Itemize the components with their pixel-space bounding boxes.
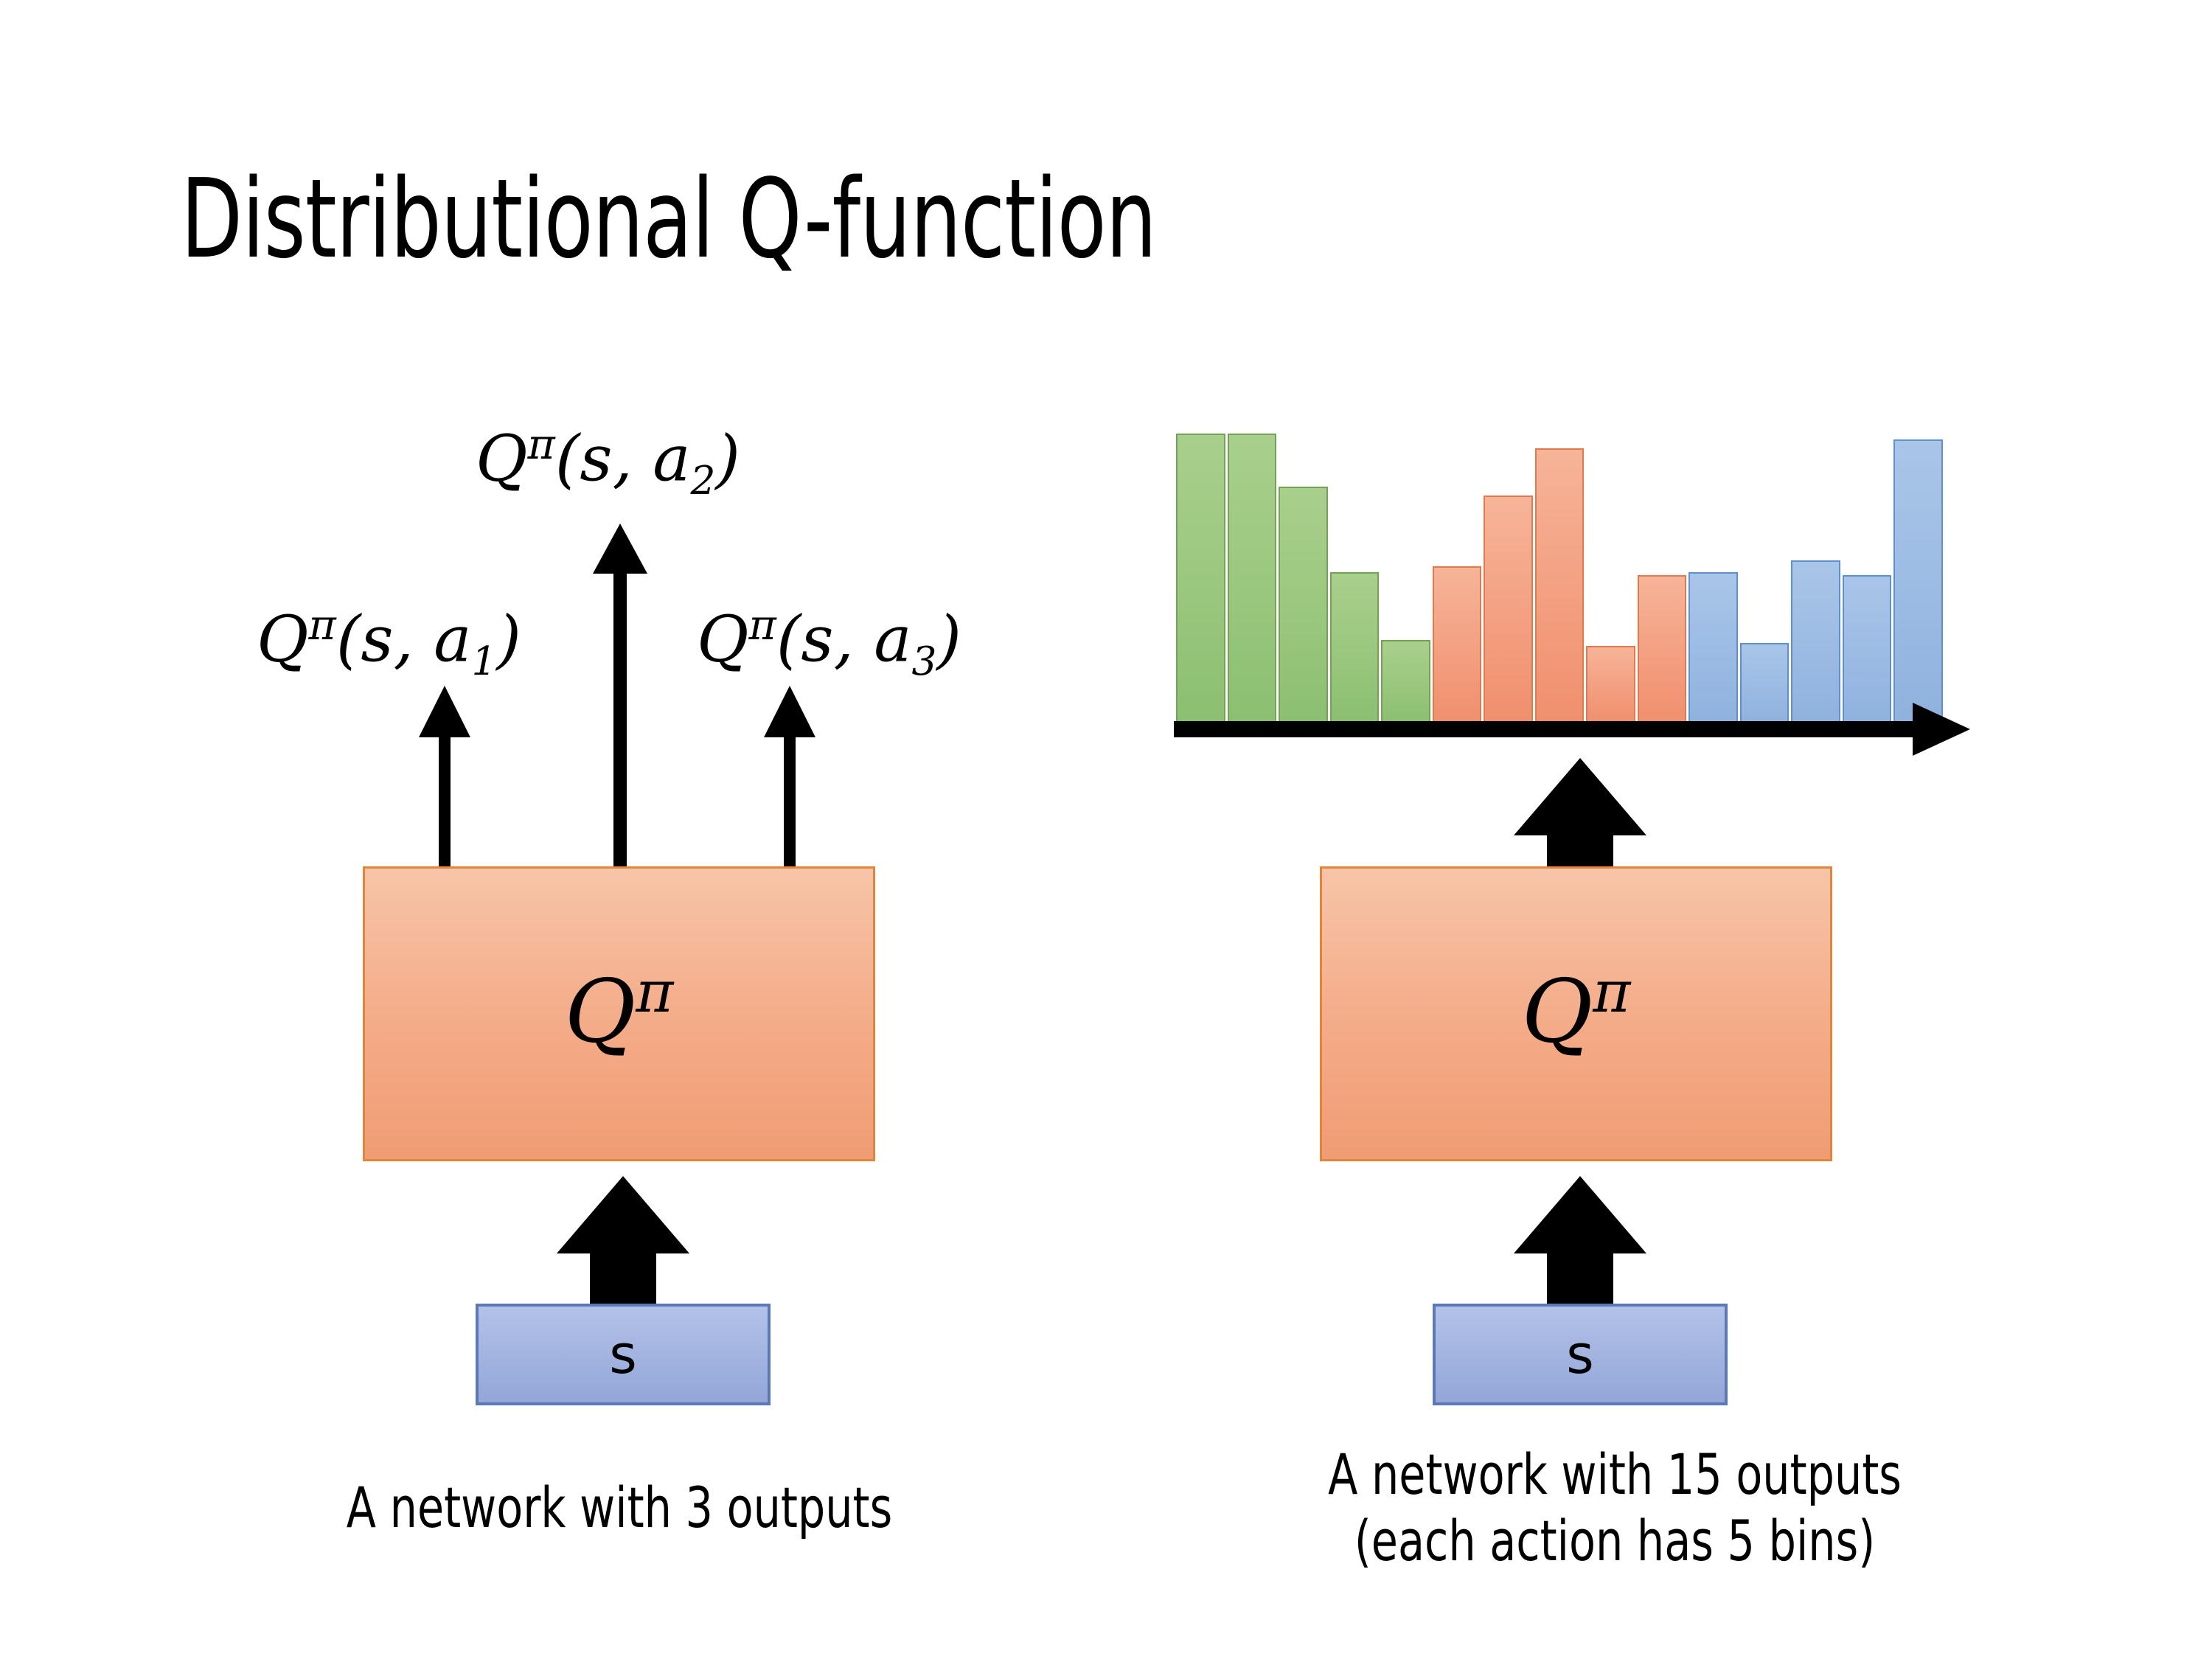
histogram-bar bbox=[1843, 575, 1892, 723]
arrow-up-thin-icon-a2 bbox=[593, 524, 647, 866]
q-a1-args: (s, a bbox=[336, 603, 472, 677]
output-label-q-a1: Qπ(s, a1) bbox=[257, 605, 521, 681]
left-q-superscript: π bbox=[636, 959, 673, 1026]
q-a3-superscript: π bbox=[749, 601, 776, 650]
histogram-bar bbox=[1893, 439, 1943, 723]
histogram-bar bbox=[1433, 566, 1482, 723]
output-label-q-a3: Qπ(s, a3) bbox=[697, 605, 961, 681]
right-network-box-label: Qπ bbox=[1522, 964, 1631, 1054]
histogram-bar bbox=[1535, 448, 1585, 723]
right-q-superscript: π bbox=[1593, 959, 1630, 1026]
arrow-up-block-icon-output bbox=[1514, 758, 1646, 866]
right-network-box[interactable]: Qπ bbox=[1320, 866, 1832, 1161]
left-caption: A network with 3 outputs bbox=[207, 1475, 1032, 1541]
left-q-base: Q bbox=[565, 960, 636, 1062]
histogram-bar bbox=[1586, 646, 1635, 723]
q-a2-close: ) bbox=[715, 422, 740, 496]
right-state-box[interactable]: s bbox=[1433, 1304, 1728, 1405]
histogram-bar bbox=[1638, 575, 1687, 723]
q-a2-subscript: 2 bbox=[690, 458, 715, 504]
q-a1-subscript: 1 bbox=[471, 639, 496, 684]
q-a3-close: ) bbox=[936, 603, 961, 677]
q-a2-args: (s, a bbox=[555, 422, 691, 496]
arrow-up-thin-icon-a1 bbox=[419, 686, 470, 866]
histogram-bar bbox=[1381, 640, 1430, 723]
histogram-bar bbox=[1330, 572, 1380, 723]
left-state-box-label: s bbox=[609, 1328, 637, 1381]
q-a3-base: Q bbox=[697, 603, 749, 677]
output-label-q-a2: Qπ(s, a2) bbox=[476, 424, 740, 501]
left-network-box-label: Qπ bbox=[565, 964, 674, 1054]
right-q-base: Q bbox=[1522, 960, 1593, 1062]
q-a3-args: (s, a bbox=[776, 603, 912, 677]
page-title: Distributional Q-function bbox=[181, 162, 1511, 276]
q-a1-base: Q bbox=[257, 603, 309, 677]
q-a3-subscript: 3 bbox=[911, 639, 936, 684]
histogram-bar bbox=[1176, 434, 1225, 723]
histogram-bar bbox=[1791, 560, 1840, 723]
histogram-bar bbox=[1484, 495, 1533, 723]
right-state-box-label: s bbox=[1566, 1328, 1594, 1381]
histogram-bar bbox=[1688, 572, 1738, 723]
q-a1-superscript: π bbox=[309, 601, 336, 650]
q-a2-base: Q bbox=[476, 422, 528, 496]
arrow-up-thin-icon-a3 bbox=[764, 686, 815, 866]
arrow-up-block-icon-right bbox=[1514, 1176, 1646, 1304]
histogram-bar bbox=[1228, 434, 1277, 723]
histogram-bar bbox=[1279, 487, 1328, 723]
right-caption: A network with 15 outputs (each action h… bbox=[1171, 1441, 2059, 1573]
left-state-box[interactable]: s bbox=[476, 1304, 771, 1405]
left-network-box[interactable]: Qπ bbox=[363, 866, 875, 1161]
q-a2-superscript: π bbox=[528, 420, 555, 469]
q-a1-close: ) bbox=[496, 603, 521, 677]
slide-canvas: Distributional Q-function Qπ(s, a1) Qπ(s… bbox=[0, 0, 2212, 1659]
arrow-up-block-icon-left bbox=[557, 1176, 689, 1304]
distribution-histogram bbox=[1176, 428, 1943, 723]
histogram-bar bbox=[1740, 643, 1790, 723]
